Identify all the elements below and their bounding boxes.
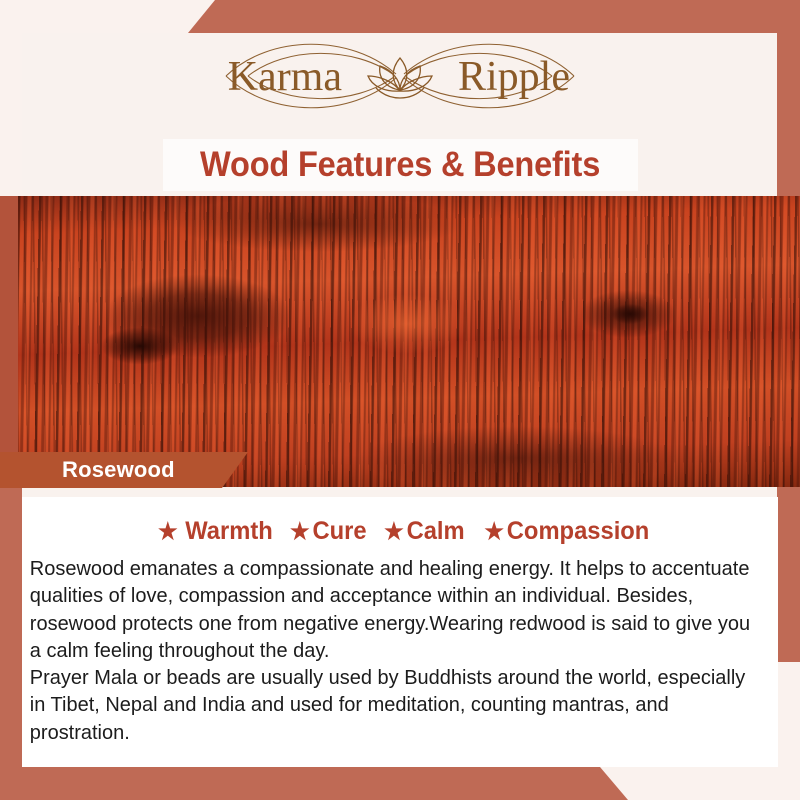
wood-photo-left-edge: [0, 196, 18, 487]
feature-item-cure: ★Cure: [290, 517, 367, 546]
frame-accent-left: [0, 488, 22, 800]
brand-word-right: Ripple: [458, 54, 570, 100]
feature-label: Cure: [313, 517, 367, 546]
star-icon: ★: [484, 520, 504, 543]
lotus-icon: [368, 58, 432, 98]
description-card: ★Warmth ★Cure ★Calm ★Compassion Rosewood…: [22, 497, 778, 767]
star-icon: ★: [290, 520, 310, 543]
feature-label: Warmth: [185, 517, 273, 546]
wood-photo-block: [0, 196, 800, 487]
wood-name-label: Rosewood: [62, 457, 175, 483]
star-icon: ★: [384, 520, 404, 543]
page-title-band: Wood Features & Benefits: [163, 139, 638, 191]
feature-label: Calm: [407, 517, 465, 546]
feature-item-warmth: ★Warmth: [158, 517, 273, 546]
description-paragraph-1: Rosewood emanates a compassionate and he…: [30, 555, 753, 664]
brand-logo-svg: Karma Ripple: [190, 28, 610, 124]
rosewood-grain-image: [18, 196, 800, 487]
feature-list: ★Warmth ★Cure ★Calm ★Compassion: [22, 517, 778, 546]
brand-word-left: Karma: [228, 54, 343, 100]
description-paragraph-2: Prayer Mala or beads are usually used by…: [30, 664, 753, 746]
frame-accent-bottom: [0, 767, 800, 800]
brand-logo: Karma Ripple: [0, 28, 800, 124]
feature-item-compassion: ★Compassion: [484, 517, 649, 546]
feature-item-calm: ★Calm: [384, 517, 465, 546]
page-title: Wood Features & Benefits: [200, 145, 600, 185]
feature-label: Compassion: [507, 517, 650, 546]
description-text: Rosewood emanates a compassionate and he…: [22, 555, 759, 746]
star-icon: ★: [158, 520, 178, 543]
wood-name-banner: Rosewood: [0, 452, 248, 488]
product-infographic-poster: Karma Ripple Wood Features & Benefits Ro…: [0, 0, 800, 800]
